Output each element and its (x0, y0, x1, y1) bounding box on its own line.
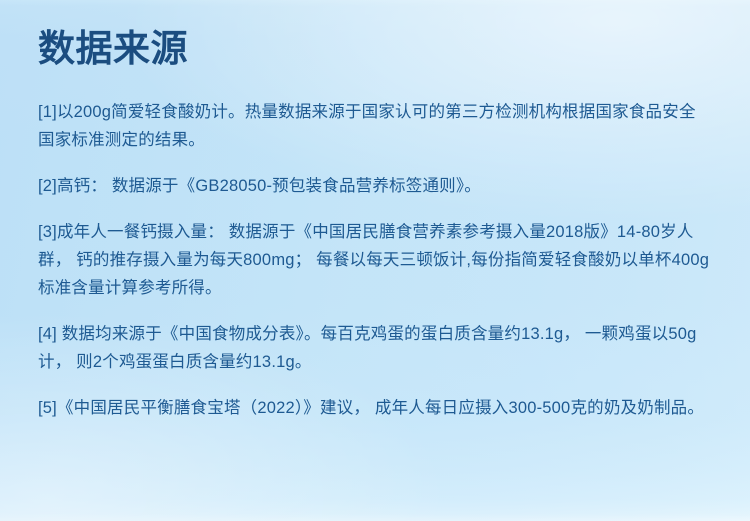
reference-item-2: [2]高钙： 数据源于《GB28050-预包装食品营养标签通则》。 (38, 172, 712, 200)
data-source-page: 数据来源 [1]以200g简爱轻食酸奶计。热量数据来源于国家认可的第三方检测机构… (0, 0, 750, 521)
reference-item-4: [4] 数据均来源于《中国食物成分表》。每百克鸡蛋的蛋白质含量约13.1g， 一… (38, 320, 712, 376)
content-container: 数据来源 [1]以200g简爱轻食酸奶计。热量数据来源于国家认可的第三方检测机构… (0, 0, 750, 422)
reference-item-3: [3]成年人一餐钙摄入量： 数据源于《中国居民膳食营养素参考摄入量2018版》1… (38, 218, 712, 302)
reference-item-1: [1]以200g简爱轻食酸奶计。热量数据来源于国家认可的第三方检测机构根据国家食… (38, 98, 712, 154)
reference-list: [1]以200g简爱轻食酸奶计。热量数据来源于国家认可的第三方检测机构根据国家食… (38, 98, 712, 422)
page-title: 数据来源 (38, 0, 712, 72)
reference-item-5: [5]《中国居民平衡膳食宝塔（2022）》建议， 成年人每日应摄入300-500… (38, 394, 712, 422)
